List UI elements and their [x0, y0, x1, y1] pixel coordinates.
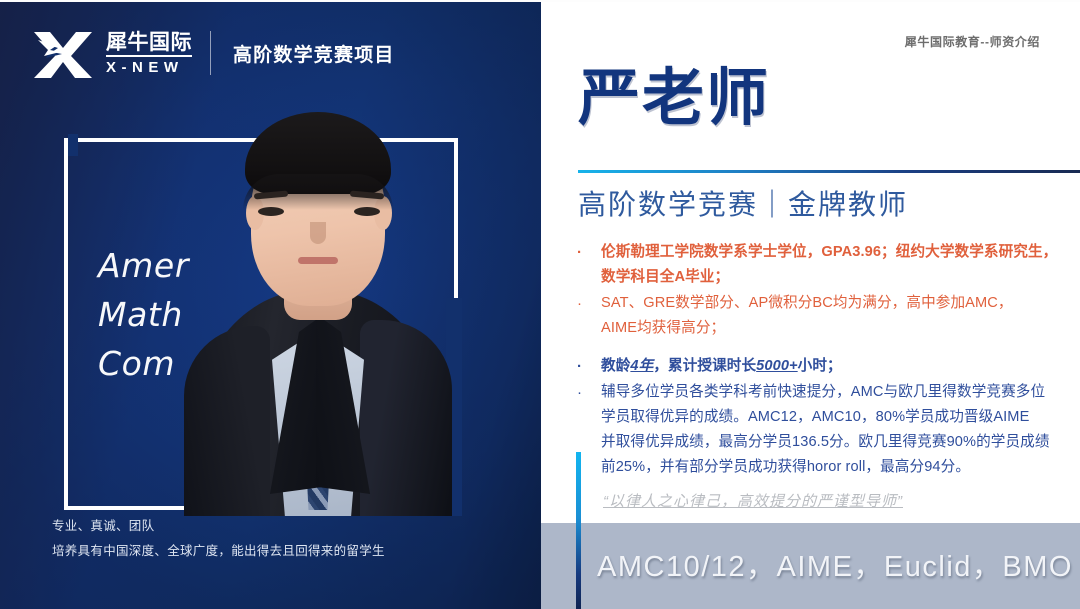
title-underline-rule — [578, 170, 1080, 173]
watermark-text: Amer Math Com — [98, 242, 189, 388]
logo-divider — [210, 31, 211, 75]
bullet-line-teaching-years: 教龄4年，累计授课时长5000+小时； — [601, 358, 842, 374]
x-rhino-logo-icon — [32, 28, 94, 78]
brand-slogan: 专业、真诚、团队 培养具有中国深度、全球广度，能出得去且回得来的留学生 — [52, 514, 385, 563]
slogan-line-2: 培养具有中国深度、全球广度，能出得去且回得来的留学生 — [52, 539, 385, 563]
slogan-line-1: 专业、真诚、团队 — [52, 514, 385, 538]
footer-course-list: AMC10/12，AIME，Euclid，BMO — [597, 543, 1073, 585]
bullet-text: 辅导多位学员各类学科考前快速提分，AMC与欧几里得数学竞赛多位 学员取得优异的成… — [601, 380, 1071, 480]
program-tag-label: 高阶数学竞赛项目 — [233, 40, 395, 67]
brand-logo-lockup[interactable]: 犀牛国际 X-NEW 高阶数学竞赛项目 — [32, 28, 395, 78]
bullet-dot-icon: · — [571, 380, 601, 405]
list-item: · 辅导多位学员各类学科考前快速提分，AMC与欧几里得数学竞赛多位 学员取得优异… — [571, 380, 1071, 480]
bullet-line: SAT、GRE数学部分、AP微积分BC均为满分，高中参加AMC， — [601, 295, 1013, 311]
portrait-hair — [245, 112, 391, 194]
brand-name-en: X-NEW — [106, 60, 184, 75]
right-content-panel: 犀牛国际教育--师资介绍 严老师 高阶数学竞赛｜金牌教师 · 伦斯勒理工学院数学… — [541, 0, 1080, 609]
watermark-line-3: Com — [98, 340, 189, 389]
slide-root: 犀牛国际 X-NEW 高阶数学竞赛项目 Amer Math Com — [0, 0, 1080, 609]
watermark-line-1: Amer — [98, 242, 189, 291]
portrait-shoulder-right — [360, 320, 452, 516]
bullet-line: AIME均获得高分； — [601, 320, 725, 336]
cyan-accent-line — [576, 452, 581, 609]
watermark-line-2: Math — [98, 291, 189, 340]
brand-wordmark: 犀牛国际 X-NEW — [106, 32, 192, 75]
list-item: · SAT、GRE数学部分、AP微积分BC均为满分，高中参加AMC， AIME均… — [571, 291, 1071, 341]
top-hairline — [0, 0, 1080, 2]
teacher-subtitle: 高阶数学竞赛｜金牌教师 — [578, 183, 908, 223]
teacher-portrait-photo — [184, 98, 452, 516]
left-blue-panel: 犀牛国际 X-NEW 高阶数学竞赛项目 Amer Math Com — [0, 2, 541, 609]
list-item: · 教龄4年，累计授课时长5000+小时； — [571, 354, 1071, 379]
bullet-line: 并取得优异成绩，最高分学员136.5分。欧几里得竞赛90%的学员成绩 — [601, 434, 1050, 450]
bullet-dot-icon: · — [571, 354, 601, 379]
bullet-text: 伦斯勒理工学院数学系学士学位，GPA3.96；纽约大学数学系研究生， 数学科目全… — [601, 240, 1071, 290]
bullet-line: 伦斯勒理工学院数学系学士学位，GPA3.96；纽约大学数学系研究生， — [601, 244, 1057, 260]
portrait-mouth — [298, 257, 338, 264]
bullet-dot-icon: · — [571, 240, 601, 265]
portrait-eye-left — [258, 207, 284, 216]
credentials-list: · 伦斯勒理工学院数学系学士学位，GPA3.96；纽约大学数学系研究生， 数学科… — [571, 240, 1071, 481]
teacher-quote: “以律人之心律己，高效提分的严谨型导师” — [603, 490, 903, 511]
portrait-eye-right — [354, 207, 380, 216]
brand-name-cn: 犀牛国际 — [106, 32, 192, 57]
bullet-line: 前25%，并有部分学员成功获得horor roll，最高分94分。 — [601, 459, 970, 475]
portrait-nose — [310, 222, 326, 244]
bullet-line: 数学科目全A毕业； — [601, 269, 729, 285]
frame-notch-top — [68, 134, 78, 156]
deck-corner-label: 犀牛国际教育--师资介绍 — [905, 33, 1040, 50]
list-item: · 伦斯勒理工学院数学系学士学位，GPA3.96；纽约大学数学系研究生， 数学科… — [571, 240, 1071, 290]
bullet-line: 学员取得优异的成绩。AMC12，AMC10，80%学员成功晋级AIME — [601, 409, 1029, 425]
portrait-shoulder-left — [184, 326, 270, 516]
bullet-text: 教龄4年，累计授课时长5000+小时； — [601, 354, 1071, 379]
teacher-name-title: 严老师 — [578, 68, 770, 130]
bullet-text: SAT、GRE数学部分、AP微积分BC均为满分，高中参加AMC， AIME均获得… — [601, 291, 1071, 341]
bullet-line: 辅导多位学员各类学科考前快速提分，AMC与欧几里得数学竞赛多位 — [601, 384, 1045, 400]
bullet-dot-icon: · — [571, 291, 601, 316]
